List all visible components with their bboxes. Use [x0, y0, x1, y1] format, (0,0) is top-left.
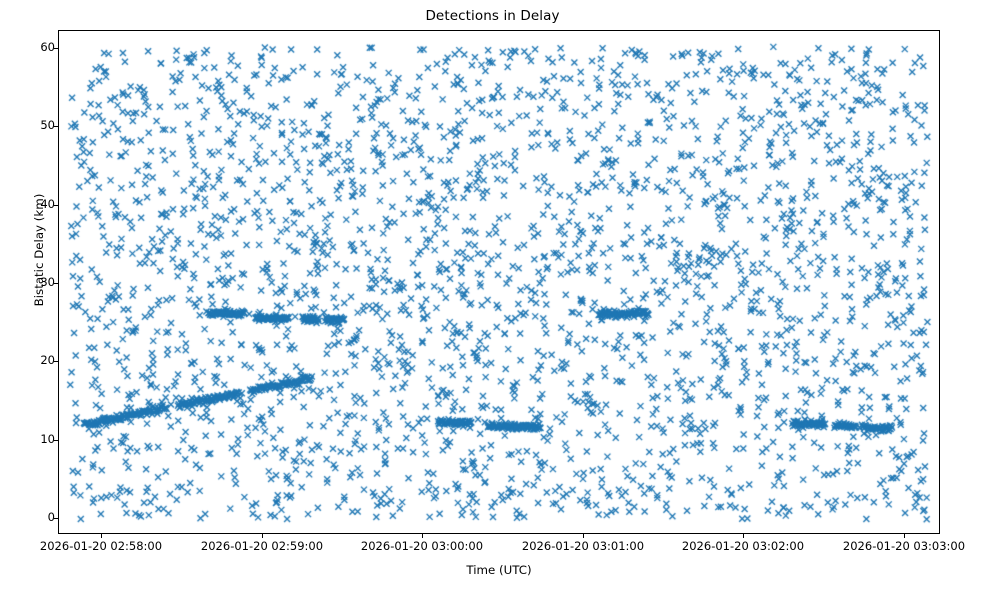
x-tick-label: 2026-01-20 03:03:00 [804, 541, 985, 553]
x-tick-mark [422, 534, 423, 538]
x-tick-mark [101, 534, 102, 538]
x-axis-label: Time (UTC) [58, 563, 940, 577]
y-tick-label: 10 [0, 434, 55, 446]
chart-title: Detections in Delay [0, 8, 985, 24]
x-tick-mark [743, 534, 744, 538]
scatter-series [59, 31, 939, 533]
y-tick-label: 30 [0, 277, 55, 289]
matplotlib-figure: Detections in Delay Bistatic Delay (km) … [0, 0, 985, 590]
y-tick-label: 40 [0, 199, 55, 211]
x-tick-mark [262, 534, 263, 538]
y-tick-label: 20 [0, 355, 55, 367]
y-axis-label: Bistatic Delay (km) [32, 150, 46, 350]
x-tick-mark [904, 534, 905, 538]
plot-area[interactable] [58, 30, 940, 534]
y-tick-label: 0 [0, 512, 55, 524]
x-tick-mark [583, 534, 584, 538]
y-tick-label: 60 [0, 42, 55, 54]
y-tick-label: 50 [0, 120, 55, 132]
